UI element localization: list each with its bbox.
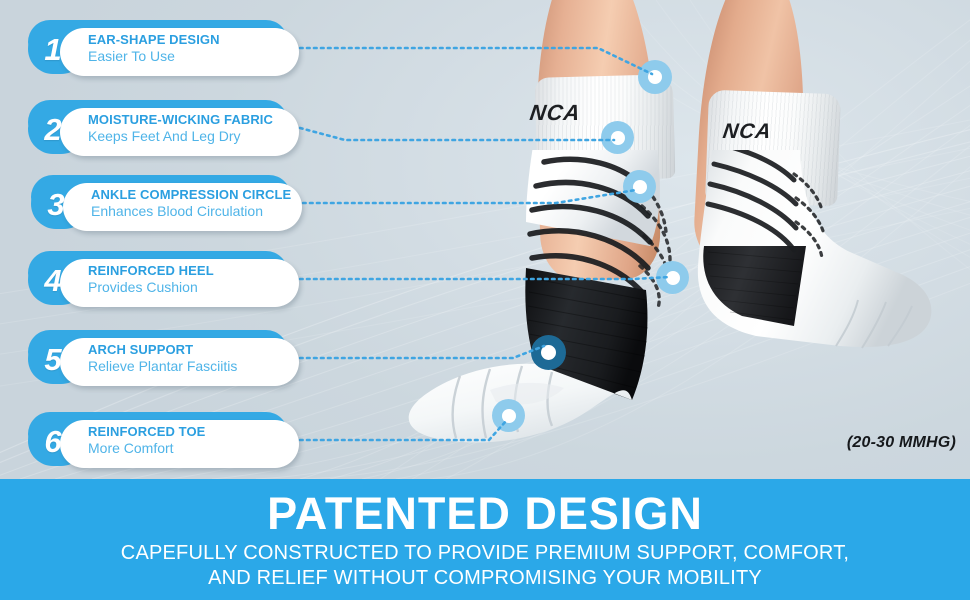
feature-card-1-number: 1 bbox=[28, 24, 78, 74]
feature-card-1-title: EAR-SHAPE DESIGN bbox=[88, 32, 303, 47]
feature-card-4-title: REINFORCED HEEL bbox=[88, 263, 303, 278]
feature-card-4-number: 4 bbox=[28, 255, 78, 305]
leader-line-4 bbox=[300, 277, 669, 279]
banner-subline-1: CAPEFULLY CONSTRUCTED TO PROVIDE PREMIUM… bbox=[0, 538, 970, 566]
feature-card-6-title: REINFORCED TOE bbox=[88, 424, 303, 439]
feature-card-5-title: ARCH SUPPORT bbox=[88, 342, 303, 357]
feature-card-2[interactable]: 2 MOISTURE-WICKING FABRIC Keeps Feet And… bbox=[14, 100, 299, 156]
feature-card-4-subtitle: Provides Cushion bbox=[88, 279, 303, 296]
feature-card-5-subtitle: Relieve Plantar Fasciitis bbox=[88, 358, 303, 375]
feature-card-5[interactable]: 5 ARCH SUPPORT Relieve Plantar Fasciitis bbox=[14, 330, 299, 386]
feature-card-2-number: 2 bbox=[28, 104, 78, 154]
infographic-root: NCA bbox=[0, 0, 970, 600]
feature-card-3-subtitle: Enhances Blood Circulation bbox=[91, 203, 306, 220]
feature-card-3-number: 3 bbox=[31, 179, 81, 229]
leader-line-5 bbox=[300, 346, 544, 358]
leader-line-3 bbox=[303, 190, 636, 203]
feature-card-3[interactable]: 3 ANKLE COMPRESSION CIRCLE Enhances Bloo… bbox=[17, 175, 302, 231]
feature-card-6[interactable]: 6 REINFORCED TOE More Comfort bbox=[14, 412, 299, 468]
leader-line-6 bbox=[300, 421, 506, 440]
feature-card-6-number: 6 bbox=[28, 416, 78, 466]
feature-card-3-title: ANKLE COMPRESSION CIRCLE bbox=[91, 187, 306, 202]
leader-line-2 bbox=[300, 128, 614, 140]
leader-line-1 bbox=[300, 48, 652, 74]
feature-card-2-subtitle: Keeps Feet And Leg Dry bbox=[88, 128, 303, 145]
bottom-banner: PATENTED DESIGN CAPEFULLY CONSTRUCTED TO… bbox=[0, 479, 970, 600]
compression-rating-label: (20-30 MMHG) bbox=[847, 434, 956, 452]
feature-card-5-number: 5 bbox=[28, 334, 78, 384]
feature-card-4[interactable]: 4 REINFORCED HEEL Provides Cushion bbox=[14, 251, 299, 307]
feature-card-2-title: MOISTURE-WICKING FABRIC bbox=[88, 112, 303, 127]
feature-card-1[interactable]: 1 EAR-SHAPE DESIGN Easier To Use bbox=[14, 20, 299, 76]
feature-card-1-subtitle: Easier To Use bbox=[88, 48, 303, 65]
feature-card-6-subtitle: More Comfort bbox=[88, 440, 303, 457]
banner-headline: PATENTED DESIGN bbox=[0, 479, 970, 538]
banner-subline-2: AND RELIEF WITHOUT COMPROMISING YOUR MOB… bbox=[0, 566, 970, 591]
